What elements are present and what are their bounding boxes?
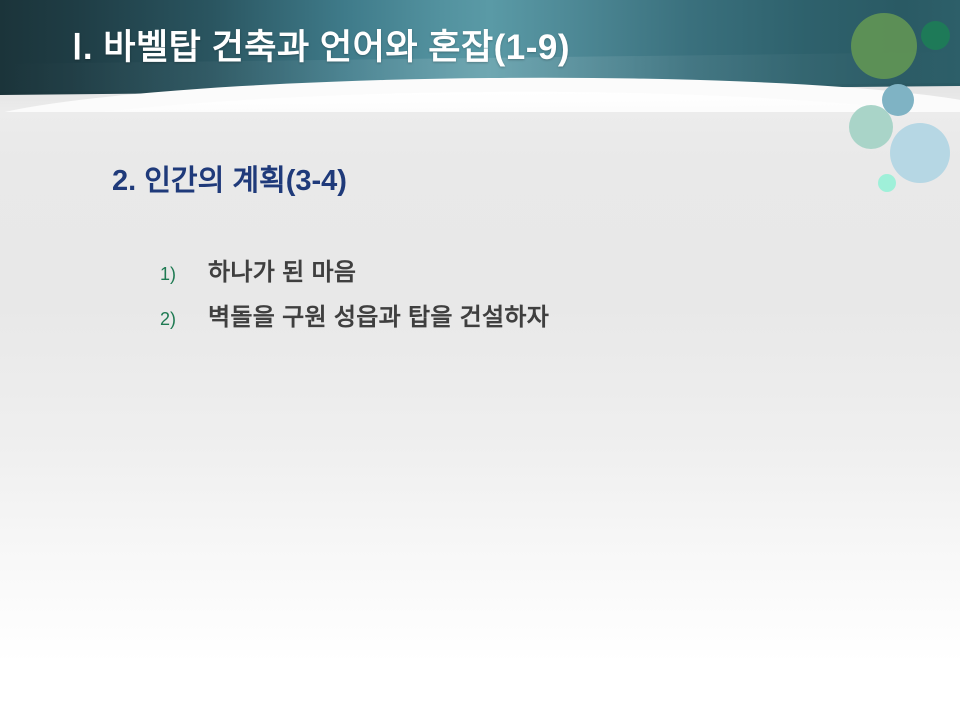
mint-tiny-circle-icon bbox=[878, 174, 896, 192]
list-item-label: 벽돌을 구원 성읍과 탑을 건설하자 bbox=[208, 297, 549, 332]
green-large-circle-icon bbox=[851, 13, 917, 79]
section-subtitle: 2. 인간의 계획(3-4) bbox=[112, 157, 347, 199]
slide-title: Ⅰ. 바벨탑 건축과 언어와 혼잡(1-9) bbox=[72, 22, 872, 74]
blue-large-circle-icon bbox=[890, 123, 950, 183]
mint-circle-icon bbox=[849, 105, 893, 149]
list-item-marker: 2) bbox=[160, 309, 208, 330]
presentation-slide: Ⅰ. 바벨탑 건축과 언어와 혼잡(1-9) 2. 인간의 계획(3-4) 1)… bbox=[0, 0, 960, 720]
list-item-marker: 1) bbox=[160, 264, 208, 285]
green-small-circle-icon bbox=[921, 21, 950, 50]
list-item-label: 하나가 된 마음 bbox=[208, 252, 356, 287]
bullet-list: 1) 하나가 된 마음 2) 벽돌을 구원 성읍과 탑을 건설하자 bbox=[160, 252, 549, 342]
list-item: 1) 하나가 된 마음 bbox=[160, 252, 549, 287]
list-item: 2) 벽돌을 구원 성읍과 탑을 건설하자 bbox=[160, 297, 549, 332]
